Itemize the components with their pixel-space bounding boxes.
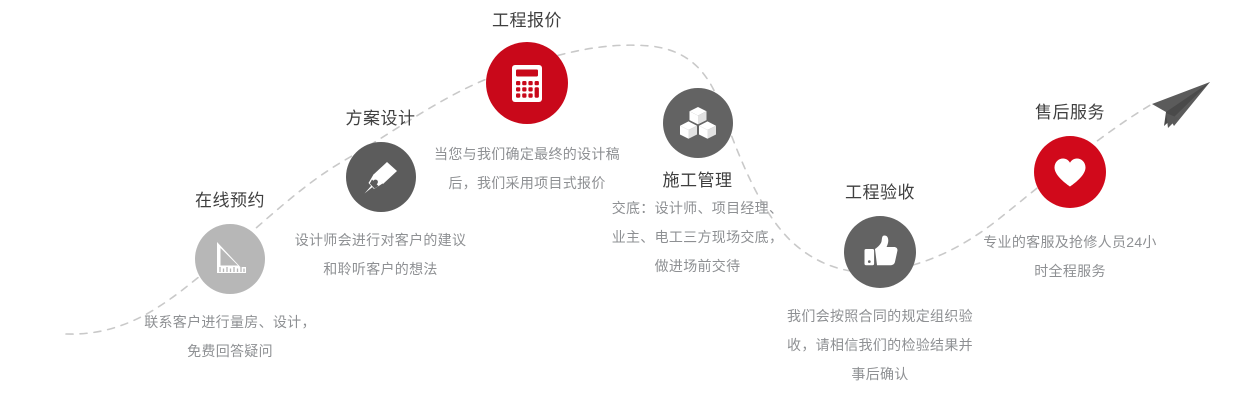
step-6-title: 售后服务 [980, 102, 1160, 124]
step-4-circle [663, 88, 733, 158]
step-3-description: 当您与我们确定最终的设计稿后，我们采用项目式报价 [432, 140, 622, 198]
step-5-description: 我们会按照合同的规定组织验收，请相信我们的检验结果并事后确认 [785, 302, 975, 389]
stacked-cubes-icon [676, 101, 720, 145]
step-6-icon-wrap [980, 136, 1160, 208]
step-3-title: 工程报价 [432, 10, 622, 32]
step-1-description: 联系客户进行量房、设计，免费回答疑问 [140, 308, 320, 366]
step-2-description: 设计师会进行对客户的建议和聆听客户的想法 [288, 226, 473, 284]
process-flow-diagram: 在线预约 [0, 0, 1245, 402]
step-1-circle [195, 224, 265, 294]
calculator-icon [504, 60, 550, 106]
process-step-5[interactable]: 工程验收 我们会按照合同的规定组织验收，请相信我们的检验结果并事后确认 [785, 182, 975, 389]
step-5-icon-wrap [785, 216, 975, 288]
process-step-6[interactable]: 售后服务 专业的客服及抢修人员24小时全程服务 [980, 102, 1160, 286]
step-3-circle [486, 42, 568, 124]
step-6-circle [1034, 136, 1106, 208]
step-4-description: 交底：设计师、项目经理、业主、电工三方现场交底，做进场前交待 [610, 194, 785, 281]
step-5-circle [844, 216, 916, 288]
set-square-ruler-icon [208, 237, 252, 281]
step-5-title: 工程验收 [785, 182, 975, 204]
step-6-description: 专业的客服及抢修人员24小时全程服务 [980, 228, 1160, 286]
step-4-title: 施工管理 [610, 170, 785, 192]
step-2-circle [346, 142, 416, 212]
fountain-pen-nib-icon [360, 156, 402, 198]
process-step-3[interactable]: 工程报价 [432, 10, 622, 198]
step-4-icon-wrap [610, 88, 785, 158]
thumbs-up-icon [858, 230, 902, 274]
process-step-4[interactable]: 施工管理 交底：设计师、项目经理、业主、电工三方现场交底，做进场前交待 [610, 88, 785, 281]
paper-plane-icon [1152, 82, 1210, 128]
step-3-icon-wrap [432, 42, 622, 124]
heart-icon [1049, 151, 1091, 193]
